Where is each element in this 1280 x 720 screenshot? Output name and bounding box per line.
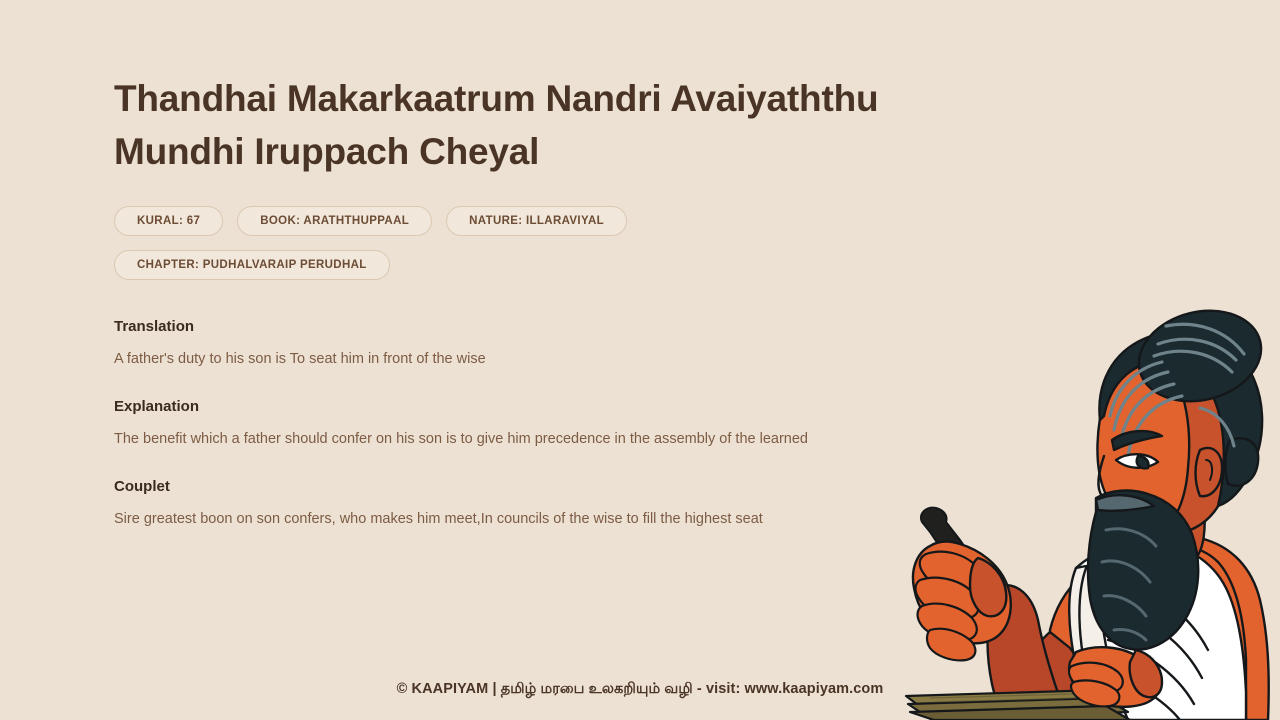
badge-kural[interactable]: KURAL: 67 [114, 206, 223, 236]
couplet-heading: Couplet [114, 478, 904, 496]
page-title: Thandhai Makarkaatrum Nandri Avaiyaththu… [114, 72, 884, 178]
kural-card-canvas: Thandhai Makarkaatrum Nandri Avaiyaththu… [0, 0, 1280, 720]
kural-content: Thandhai Makarkaatrum Nandri Avaiyaththu… [114, 72, 904, 530]
section-explanation: Explanation The benefit which a father s… [114, 398, 904, 450]
badge-book[interactable]: BOOK: ARATHTHUPPAAL [237, 206, 432, 236]
section-couplet: Couplet Sire greatest boon on son confer… [114, 478, 904, 530]
couplet-text: Sire greatest boon on son confers, who m… [114, 508, 874, 530]
footer-credit: © KAAPIYAM | தமிழ் மரபை உலகறியும் வழி - … [0, 679, 1280, 699]
translation-heading: Translation [114, 318, 904, 336]
explanation-text: The benefit which a father should confer… [114, 428, 826, 450]
translation-text: A father's duty to his son is To seat hi… [114, 348, 874, 370]
badge-nature[interactable]: NATURE: ILLARAVIYAL [446, 206, 627, 236]
section-translation: Translation A father's duty to his son i… [114, 318, 904, 370]
badge-chapter[interactable]: CHAPTER: PUDHALVARAIP PERUDHAL [114, 250, 390, 280]
thiruvalluvar-sage-writing-illustration [900, 300, 1280, 720]
explanation-heading: Explanation [114, 398, 904, 416]
metadata-badge-row: KURAL: 67 BOOK: ARATHTHUPPAAL NATURE: IL… [114, 206, 904, 280]
